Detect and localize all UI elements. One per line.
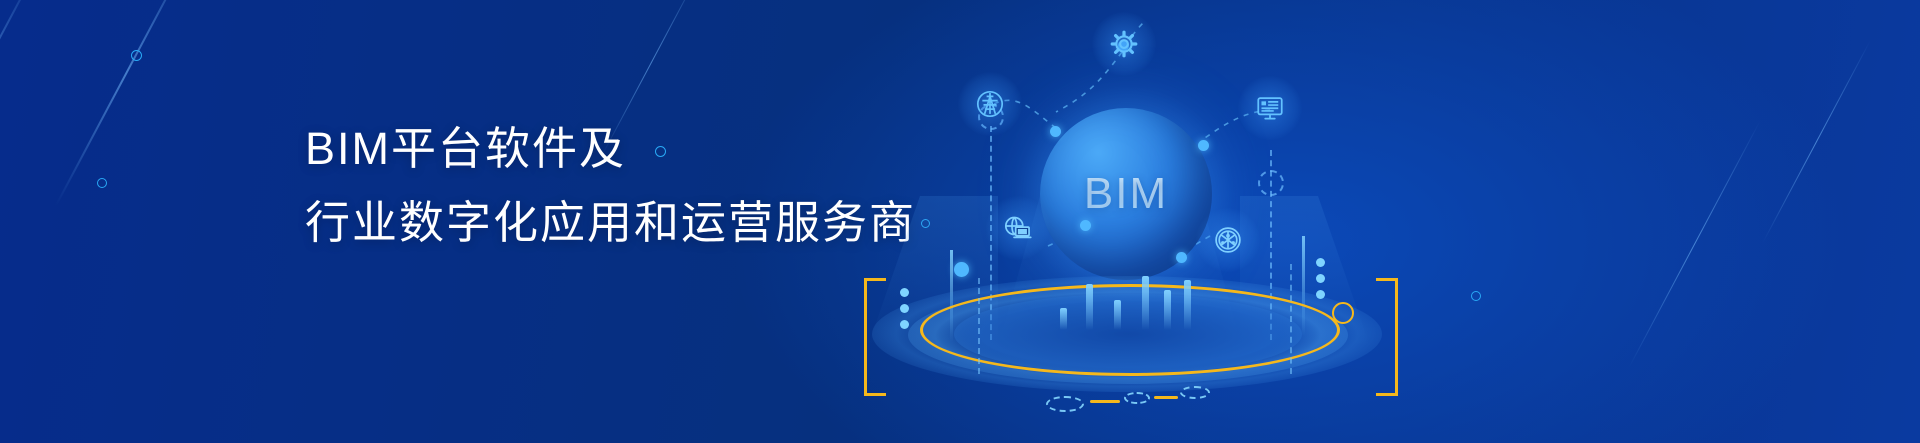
decor-streak-5 bbox=[1762, 40, 1871, 244]
power-tower-icon[interactable] bbox=[958, 72, 1022, 136]
platform-bar bbox=[1086, 284, 1093, 330]
platform-bar bbox=[1164, 290, 1171, 330]
ring-marker-3 bbox=[1180, 386, 1210, 399]
platform-bars bbox=[1060, 268, 1200, 330]
orbit-node-lower-right bbox=[1176, 252, 1187, 263]
decor-dot-ring-2 bbox=[97, 178, 107, 188]
network-nodes-icon[interactable] bbox=[1196, 208, 1260, 272]
orbit-node-left bbox=[1050, 126, 1061, 137]
ring-marker-2 bbox=[1124, 392, 1150, 404]
decor-dot-ring-4 bbox=[1471, 291, 1481, 301]
platform-bar bbox=[1060, 308, 1067, 330]
bracket-guide-left bbox=[978, 278, 980, 374]
orbit-node-lower-left bbox=[1080, 220, 1091, 231]
bim-illustration: BIM bbox=[850, 0, 1410, 443]
gold-accent-ring bbox=[1332, 302, 1354, 324]
ring-segment-2 bbox=[1154, 396, 1178, 399]
monitor-icon[interactable] bbox=[1238, 76, 1302, 140]
bracket-guide-right bbox=[1290, 264, 1292, 374]
platform-bar bbox=[1184, 280, 1191, 330]
orbit-node-base-left bbox=[954, 262, 969, 277]
headline-line-2: 行业数字化应用和运营服务商 bbox=[305, 186, 916, 260]
page-title: BIM平台软件及 行业数字化应用和运营服务商 bbox=[305, 112, 916, 260]
decor-streak-4 bbox=[1629, 120, 1762, 368]
decor-streak-1 bbox=[0, 0, 41, 252]
platform-bar bbox=[1142, 276, 1149, 330]
decor-dot-ring-1 bbox=[131, 50, 142, 61]
decor-streak-2 bbox=[55, 0, 197, 206]
bracket-right bbox=[1358, 278, 1398, 396]
bracket-left bbox=[864, 278, 904, 396]
ring-segment-1 bbox=[1090, 400, 1120, 403]
gear-icon[interactable] bbox=[1092, 12, 1156, 76]
platform-bar bbox=[1114, 300, 1121, 330]
hero-banner: BIM平台软件及 行业数字化应用和运营服务商 BIM bbox=[0, 0, 1920, 443]
headline-line-1: BIM平台软件及 bbox=[305, 112, 916, 186]
ring-marker-1 bbox=[1046, 396, 1084, 412]
orbit-node-right bbox=[1198, 140, 1209, 151]
globe-laptop-icon[interactable] bbox=[986, 196, 1050, 260]
